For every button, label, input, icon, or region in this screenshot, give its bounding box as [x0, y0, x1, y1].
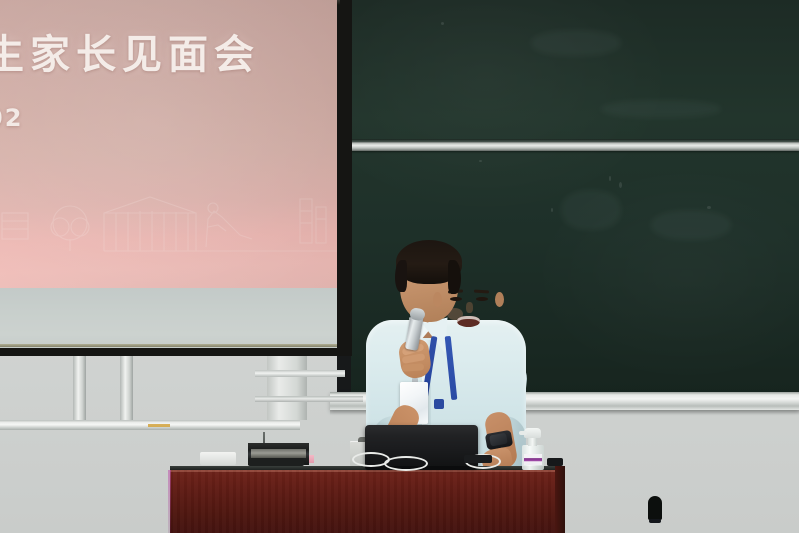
screen-support-panel [267, 356, 307, 420]
projection-screen: 生家长见面会 02 [0, 0, 337, 348]
ear-right [495, 292, 504, 307]
screen-support-post-mid [120, 356, 133, 422]
document-tray [248, 458, 304, 466]
small-device [464, 455, 492, 463]
hair-side-left [395, 260, 407, 292]
slide-bottom-band [0, 288, 337, 348]
chalk-rail [351, 142, 799, 151]
wall-socket [648, 496, 662, 520]
lecture-hall-photo: 生家长见面会 02 [0, 0, 799, 533]
eyebrow-right [474, 289, 489, 293]
podium-wood-grain [170, 470, 560, 533]
lanyard-joint [434, 399, 444, 409]
screen-support-crossbar-lower [255, 396, 363, 402]
slide-artwork [0, 155, 337, 285]
dark-object-right [547, 458, 563, 466]
document-holder-slot [251, 449, 306, 458]
podium [170, 470, 560, 533]
slide-bottom-edge [0, 344, 337, 347]
podium-right-edge [555, 466, 565, 533]
hand-sanitizer-label [524, 454, 542, 465]
hand-sanitizer-neck [528, 437, 537, 446]
screen-support-crossbar-upper [255, 370, 345, 377]
ear-left [433, 292, 442, 307]
hair-side-right [448, 260, 461, 294]
watch-face [489, 433, 508, 447]
hand-sanitizer-bottle [522, 445, 544, 470]
nose [466, 302, 473, 313]
cable-loop-mid [384, 456, 428, 471]
slide-title: 生家长见面会 [0, 22, 260, 80]
hand-sanitizer-spout [519, 431, 527, 435]
screen-support-post-left [73, 356, 86, 422]
slide-subtitle: 02 [0, 104, 23, 132]
wall-rail-marker [148, 424, 170, 427]
eye-left [450, 297, 462, 301]
eye-right [476, 297, 488, 301]
mouth [457, 316, 480, 327]
podium-left-edge [168, 470, 171, 533]
white-block [200, 452, 236, 465]
podium-edge-highlight [170, 470, 560, 472]
